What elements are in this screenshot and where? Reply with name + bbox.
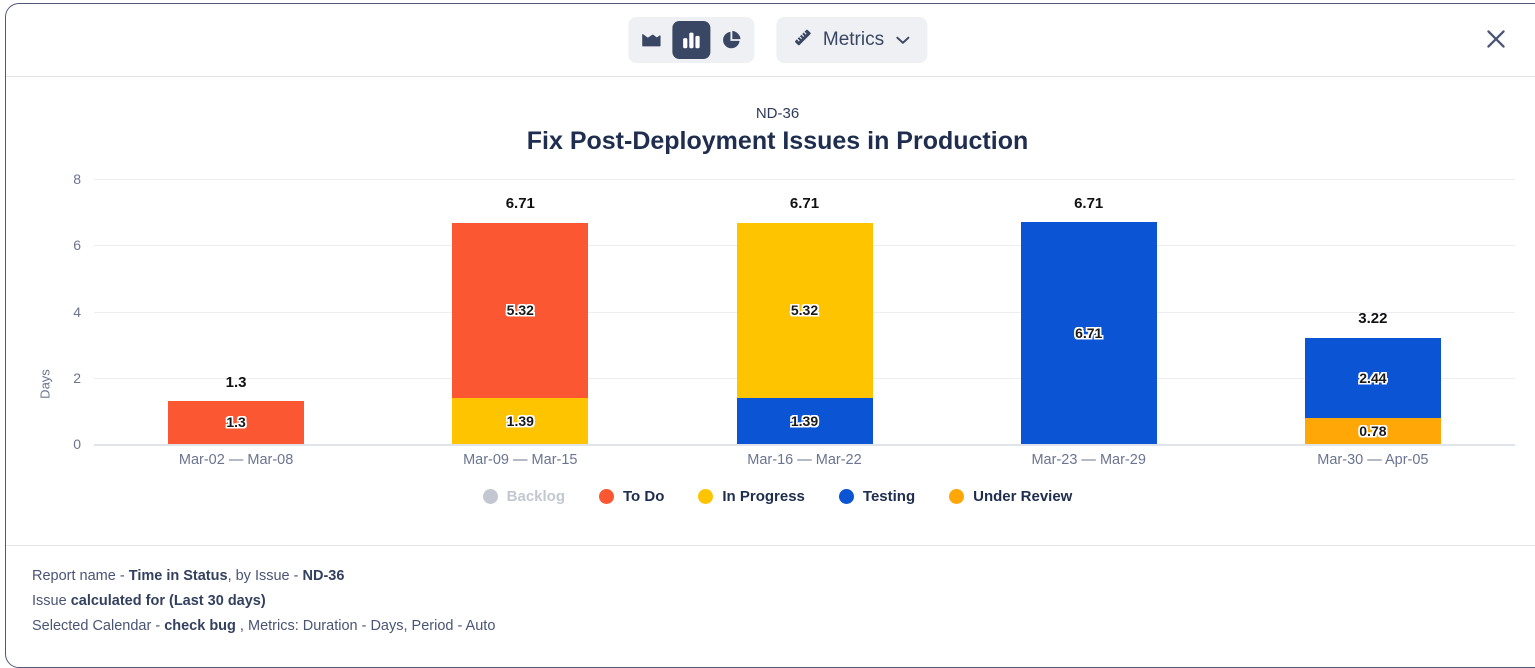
bar-total-label: 6.71 xyxy=(452,195,588,212)
footer-emphasis: calculated for (Last 30 days) xyxy=(71,593,266,609)
area-chart-icon xyxy=(640,29,662,51)
y-axis-tick-label: 2 xyxy=(41,370,81,386)
bar-segment[interactable]: 1.39 xyxy=(737,398,873,444)
chart-type-pie-button[interactable] xyxy=(712,21,750,59)
toolbar-controls: Metrics xyxy=(628,17,927,63)
bar-segment-value-label: 2.44 xyxy=(1359,370,1386,386)
chart-subtitle: ND-36 xyxy=(6,105,1535,122)
y-axis-tick-label: 6 xyxy=(41,237,81,253)
legend-item[interactable]: To Do xyxy=(599,488,664,505)
chart-type-bar-button[interactable] xyxy=(672,21,710,59)
gridline xyxy=(94,179,1515,180)
legend-label: To Do xyxy=(623,488,664,505)
footer-text: Issue xyxy=(32,593,71,609)
x-axis-tick-label: Mar-09 — Mar-15 xyxy=(378,452,662,468)
footer-text: Report name - xyxy=(32,568,129,584)
bar-segment[interactable]: 2.44 xyxy=(1305,337,1441,418)
legend-color-dot xyxy=(949,489,964,504)
report-card: Metrics ND-36 Fix Post-Deployment Issues… xyxy=(5,3,1535,668)
chevron-down-icon xyxy=(896,33,909,47)
bar-segment[interactable]: 0.78 xyxy=(1305,418,1441,444)
chart-type-area-button[interactable] xyxy=(632,21,670,59)
bar-segment-value-label: 1.3 xyxy=(226,414,245,430)
bar-segment-value-label: 0.78 xyxy=(1359,423,1386,439)
report-footer: Report name - Time in Status, by Issue -… xyxy=(6,545,1535,639)
footer-calendar-metrics: Selected Calendar - check bug , Metrics:… xyxy=(32,614,1535,639)
chart-type-toggle-group[interactable] xyxy=(628,17,754,63)
pie-chart-icon xyxy=(720,29,742,51)
bar-segment-value-label: 5.32 xyxy=(507,302,534,318)
y-axis-tick-label: 0 xyxy=(41,436,81,452)
x-axis-tick-label: Mar-30 — Apr-05 xyxy=(1231,452,1515,468)
footer-report-name: Report name - Time in Status, by Issue -… xyxy=(32,564,1535,589)
chart-container: ND-36 Fix Post-Deployment Issues in Prod… xyxy=(6,77,1535,545)
bar-stack[interactable]: 1.3 xyxy=(168,401,304,444)
bar-segment[interactable]: 1.39 xyxy=(452,398,588,444)
legend-item[interactable]: In Progress xyxy=(698,488,805,505)
bar-segment-value-label: 1.39 xyxy=(791,413,818,429)
x-axis-tick-label: Mar-16 — Mar-22 xyxy=(662,452,946,468)
bar-total-label: 6.71 xyxy=(1021,195,1157,212)
plot-area: 864201.31.3Mar-02 — Mar-081.395.326.71Ma… xyxy=(94,179,1515,444)
y-axis-tick-label: 8 xyxy=(41,171,81,187)
y-axis-tick-label: 4 xyxy=(41,304,81,320)
footer-emphasis: ND-36 xyxy=(303,568,345,584)
legend-label: Testing xyxy=(863,488,915,505)
bar-chart-icon xyxy=(680,29,702,51)
footer-text: , Metrics: Duration - Days, Period - Aut… xyxy=(236,618,495,634)
legend-color-dot xyxy=(698,489,713,504)
x-axis-tick-label: Mar-02 — Mar-08 xyxy=(94,452,378,468)
legend-label: Under Review xyxy=(973,488,1072,505)
legend-item[interactable]: Under Review xyxy=(949,488,1072,505)
bar-segment[interactable]: 5.32 xyxy=(737,222,873,398)
close-icon xyxy=(1483,26,1509,55)
legend-item[interactable]: Testing xyxy=(839,488,915,505)
bar-total-label: 6.71 xyxy=(737,195,873,212)
footer-emphasis: Time in Status xyxy=(129,568,228,584)
bar-segment-value-label: 6.71 xyxy=(1075,325,1102,341)
chart-legend: BacklogTo DoIn ProgressTestingUnder Revi… xyxy=(6,488,1535,505)
legend-label: In Progress xyxy=(722,488,805,505)
chart-title: Fix Post-Deployment Issues in Production xyxy=(6,127,1535,156)
legend-item[interactable]: Backlog xyxy=(483,488,565,505)
bar-segment-value-label: 5.32 xyxy=(791,302,818,318)
metrics-label: Metrics xyxy=(823,29,884,51)
bar-stack[interactable]: 6.71 xyxy=(1021,222,1157,444)
bar-segment[interactable]: 6.71 xyxy=(1021,222,1157,444)
footer-calculated-for: Issue calculated for (Last 30 days) xyxy=(32,589,1535,614)
bar-stack[interactable]: 1.395.32 xyxy=(452,222,588,444)
legend-color-dot xyxy=(839,489,854,504)
footer-text: , by Issue - xyxy=(228,568,303,584)
bar-segment[interactable]: 1.3 xyxy=(168,401,304,444)
chart-toolbar: Metrics xyxy=(6,4,1535,77)
close-button[interactable] xyxy=(1481,25,1511,55)
x-axis-tick-label: Mar-23 — Mar-29 xyxy=(947,452,1231,468)
metrics-dropdown-button[interactable]: Metrics xyxy=(776,17,927,63)
legend-color-dot xyxy=(483,489,498,504)
legend-color-dot xyxy=(599,489,614,504)
bar-total-label: 3.22 xyxy=(1305,310,1441,327)
bar-stack[interactable]: 0.782.44 xyxy=(1305,337,1441,444)
gridline xyxy=(94,444,1515,446)
footer-emphasis: check bug xyxy=(164,618,236,634)
legend-label: Backlog xyxy=(507,488,565,505)
bar-total-label: 1.3 xyxy=(168,374,304,391)
bar-segment[interactable]: 5.32 xyxy=(452,222,588,398)
bar-stack[interactable]: 1.395.32 xyxy=(737,222,873,444)
footer-text: Selected Calendar - xyxy=(32,618,164,634)
ruler-icon xyxy=(792,27,813,54)
bar-segment-value-label: 1.39 xyxy=(507,413,534,429)
